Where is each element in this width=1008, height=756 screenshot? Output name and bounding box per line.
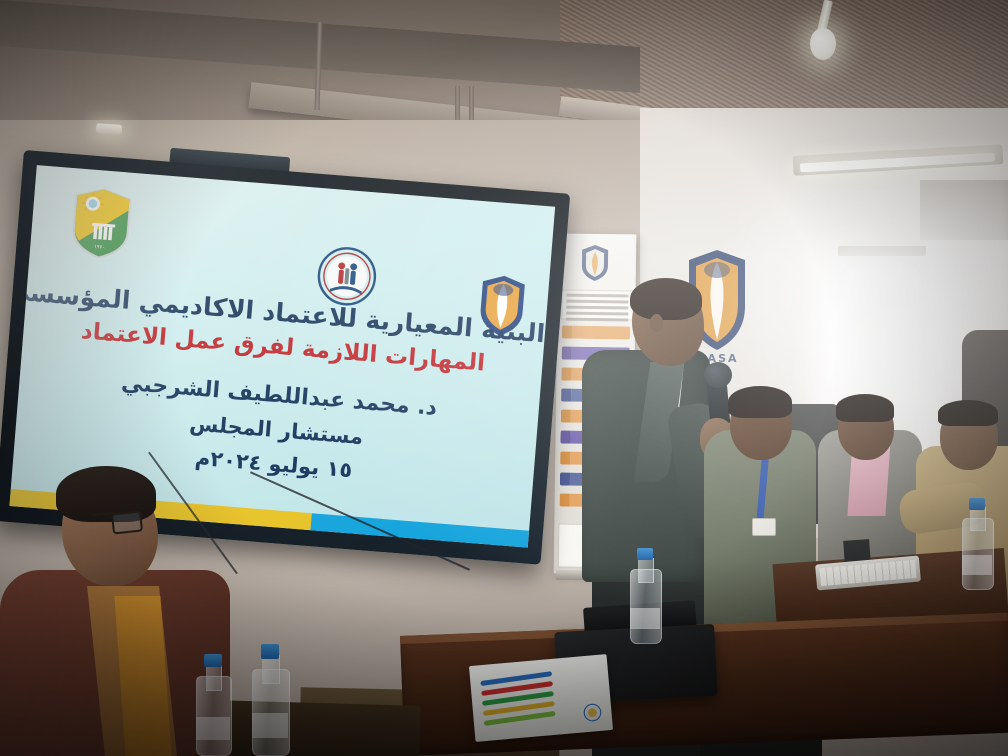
ceiling-spot-light-icon bbox=[96, 123, 123, 135]
bottle-cap bbox=[969, 498, 985, 510]
banner-flow-chip bbox=[560, 452, 570, 465]
banner-flow-chip bbox=[560, 473, 570, 486]
water-bottle-center[interactable] bbox=[630, 548, 660, 644]
bottle-cap bbox=[204, 654, 222, 667]
attendee-gray-jacket-hair bbox=[836, 394, 894, 422]
hanging-light-bulb-icon bbox=[810, 28, 836, 60]
bottle-label bbox=[630, 608, 660, 629]
banner-flow-chip bbox=[560, 494, 570, 507]
bottle-neck bbox=[970, 507, 985, 531]
ministry-higher-education-seal-icon bbox=[315, 244, 380, 309]
handout-seal-icon bbox=[581, 701, 605, 725]
bottle-neck bbox=[262, 655, 280, 684]
banner-flow-chip bbox=[561, 389, 571, 402]
attendee-tan-shirt-hair bbox=[938, 400, 998, 426]
bottle-cap bbox=[637, 548, 653, 560]
window-header bbox=[838, 246, 926, 256]
banner-flow-rows bbox=[558, 233, 636, 234]
attendee-with-lanyard-hair bbox=[728, 386, 792, 418]
microphone-head bbox=[704, 362, 732, 388]
banner-flow-chip bbox=[562, 326, 572, 339]
banner-caption-block bbox=[561, 290, 633, 321]
bottle-label bbox=[962, 555, 992, 575]
water-bottle-left-a[interactable] bbox=[196, 654, 230, 756]
svg-text:١٩٧٠: ١٩٧٠ bbox=[94, 244, 105, 251]
banner-flow-chip bbox=[561, 410, 571, 423]
water-bottle-right[interactable] bbox=[962, 498, 992, 590]
banner-flow-chip bbox=[561, 368, 571, 381]
bottle-label bbox=[252, 713, 288, 738]
banner-flow-chip bbox=[562, 347, 572, 360]
bottle-cap bbox=[261, 644, 280, 659]
speaker-hair bbox=[630, 278, 702, 320]
bottle-neck bbox=[206, 664, 223, 690]
bottle-neck bbox=[638, 558, 653, 583]
speaker-ear bbox=[650, 314, 663, 332]
keyboard-keys bbox=[819, 560, 916, 586]
banner-flow-chip bbox=[560, 431, 570, 444]
water-bottle-left-b[interactable] bbox=[252, 644, 288, 756]
banner-shield-icon bbox=[580, 244, 611, 282]
sanaa-university-logo-icon: ١٩٧٠ bbox=[67, 184, 135, 263]
printed-handout[interactable] bbox=[469, 654, 613, 742]
photo-scene: CASA bbox=[0, 0, 1008, 756]
banner-flow-row bbox=[562, 326, 630, 340]
eyeglasses-icon bbox=[111, 510, 143, 534]
id-badge bbox=[752, 518, 776, 536]
banner-flow-bar bbox=[572, 326, 630, 340]
bottle-label bbox=[196, 717, 230, 739]
